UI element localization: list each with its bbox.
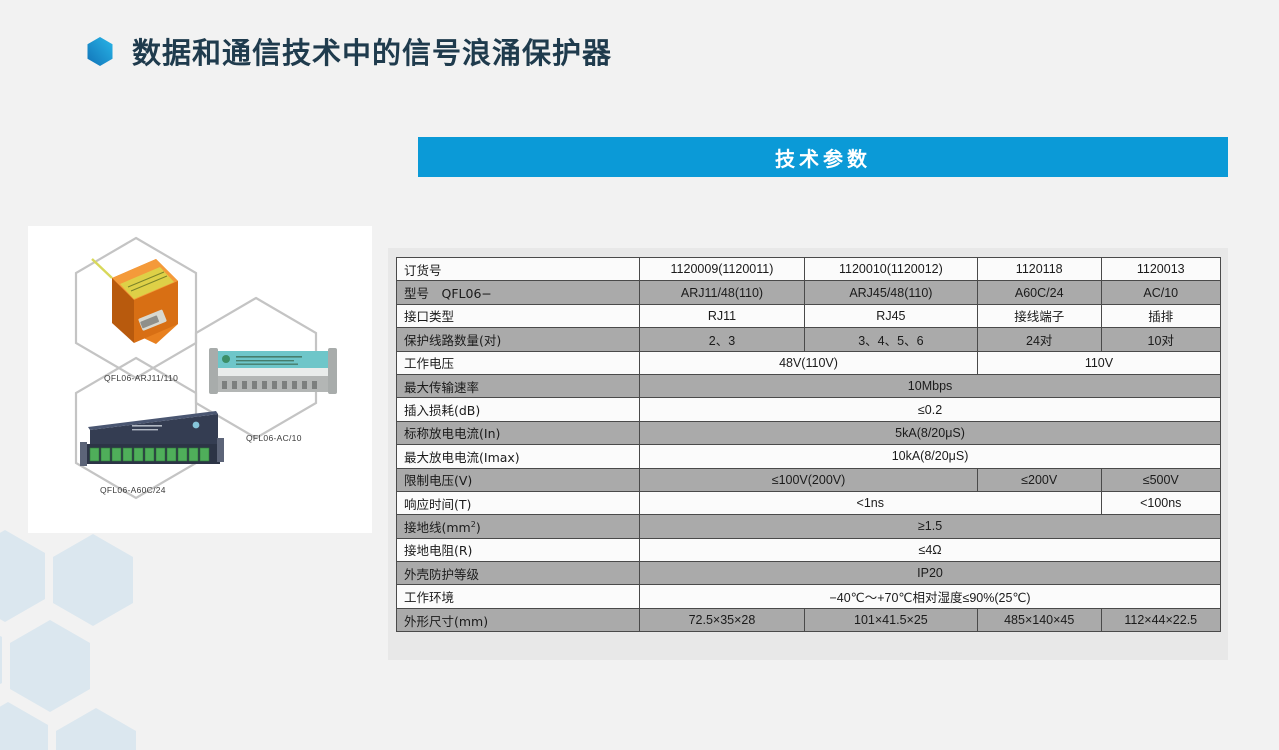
table-row-label: 外形尺寸(mm) — [397, 608, 640, 631]
product-caption-ac10: QFL06-AC/10 — [246, 433, 302, 443]
table-row: 订货号1120009(1120011)1120010(1120012)11201… — [397, 258, 1221, 281]
table-row-label: 最大传输速率 — [397, 374, 640, 397]
table-cell: <100ns — [1101, 491, 1221, 514]
table-cell: 101×41.5×25 — [804, 608, 977, 631]
product-caption-arj11: QFL06-ARJ11/110 — [104, 373, 178, 383]
hexagon-watermark-pattern — [0, 520, 290, 750]
product-hexagon-collage — [28, 226, 372, 533]
page-title: 数据和通信技术中的信号浪涌保护器 — [132, 30, 612, 72]
table-row-label: 工作环境 — [397, 585, 640, 608]
table-row-label: 响应时间(T) — [397, 491, 640, 514]
product-photo-ac10 — [209, 348, 337, 394]
table-cell: 1120009(1120011) — [640, 258, 805, 281]
table-cell: <1ns — [640, 491, 1101, 514]
section-banner-label: 技术参数 — [775, 143, 871, 172]
table-cell: A60C/24 — [977, 281, 1101, 304]
hexagon-icon — [86, 36, 114, 67]
table-cell: ARJ45/48(110) — [804, 281, 977, 304]
table-cell: 10对 — [1101, 328, 1221, 351]
table-row: 工作电压48V(110V)110V — [397, 351, 1221, 374]
table-cell: 1120013 — [1101, 258, 1221, 281]
table-row-label: 插入损耗(dB) — [397, 398, 640, 421]
spec-table-container: 订货号1120009(1120011)1120010(1120012)11201… — [388, 248, 1228, 660]
product-image-panel: QFL06-ARJ11/110 QFL06-AC/10 QFL06-A60C/2… — [28, 226, 372, 533]
table-cell: RJ45 — [804, 304, 977, 327]
table-cell: 485×140×45 — [977, 608, 1101, 631]
table-cell: 72.5×35×28 — [640, 608, 805, 631]
table-cell: 112×44×22.5 — [1101, 608, 1221, 631]
table-cell: 110V — [977, 351, 1220, 374]
table-row-label: 订货号 — [397, 258, 640, 281]
table-cell: ≤0.2 — [640, 398, 1221, 421]
page-title-bar: 数据和通信技术中的信号浪涌保护器 — [86, 30, 612, 72]
table-row: 标称放电电流(In)5kA(8/20μS) — [397, 421, 1221, 444]
table-cell: ≤4Ω — [640, 538, 1221, 561]
table-cell: −40℃～+70℃相对湿度≤90%(25℃) — [640, 585, 1221, 608]
table-row: 外形尺寸(mm)72.5×35×28101×41.5×25485×140×451… — [397, 608, 1221, 631]
table-cell: 插排 — [1101, 304, 1221, 327]
table-cell: 24对 — [977, 328, 1101, 351]
table-cell: 48V(110V) — [640, 351, 978, 374]
table-cell: ≤200V — [977, 468, 1101, 491]
table-row: 接地线(mm2)≥1.5 — [397, 515, 1221, 538]
table-row-label: 标称放电电流(In) — [397, 421, 640, 444]
table-row: 最大传输速率10Mbps — [397, 374, 1221, 397]
table-cell: 5kA(8/20μS) — [640, 421, 1221, 444]
table-row-label: 外壳防护等级 — [397, 562, 640, 585]
table-cell: AC/10 — [1101, 281, 1221, 304]
table-row-label: 工作电压 — [397, 351, 640, 374]
table-row-label: 保护线路数量(对) — [397, 328, 640, 351]
table-cell: 1120118 — [977, 258, 1101, 281]
table-cell: 2、3 — [640, 328, 805, 351]
table-row: 外壳防护等级IP20 — [397, 562, 1221, 585]
product-photo-arj11 — [92, 259, 178, 344]
table-cell: IP20 — [640, 562, 1221, 585]
table-row-label: 接地电阻(R) — [397, 538, 640, 561]
section-banner: 技术参数 — [418, 137, 1228, 177]
table-cell: RJ11 — [640, 304, 805, 327]
product-photo-a60c — [80, 411, 224, 466]
table-cell: ≤500V — [1101, 468, 1221, 491]
table-row: 响应时间(T)<1ns<100ns — [397, 491, 1221, 514]
table-row: 接口类型RJ11RJ45接线端子插排 — [397, 304, 1221, 327]
table-row: 限制电压(V)≤100V(200V)≤200V≤500V — [397, 468, 1221, 491]
spec-table: 订货号1120009(1120011)1120010(1120012)11201… — [396, 257, 1221, 632]
table-row: 工作环境−40℃～+70℃相对湿度≤90%(25℃) — [397, 585, 1221, 608]
table-cell: 3、4、5、6 — [804, 328, 977, 351]
table-row-label: 型号 QFL06− — [397, 281, 640, 304]
table-row: 型号 QFL06−ARJ11/48(110)ARJ45/48(110)A60C/… — [397, 281, 1221, 304]
table-cell: 10Mbps — [640, 374, 1221, 397]
table-row: 接地电阻(R)≤4Ω — [397, 538, 1221, 561]
table-cell: ≥1.5 — [640, 515, 1221, 538]
table-cell: 接线端子 — [977, 304, 1101, 327]
table-cell: ≤100V(200V) — [640, 468, 978, 491]
table-row: 插入损耗(dB)≤0.2 — [397, 398, 1221, 421]
product-caption-a60c: QFL06-A60C/24 — [100, 485, 166, 495]
table-row: 最大放电电流(Imax)10kA(8/20μS) — [397, 445, 1221, 468]
table-cell: 10kA(8/20μS) — [640, 445, 1221, 468]
table-row: 保护线路数量(对)2、33、4、5、624对10对 — [397, 328, 1221, 351]
table-cell: 1120010(1120012) — [804, 258, 977, 281]
table-row-label: 接口类型 — [397, 304, 640, 327]
table-cell: ARJ11/48(110) — [640, 281, 805, 304]
table-row-label: 限制电压(V) — [397, 468, 640, 491]
table-row-label: 接地线(mm2) — [397, 515, 640, 538]
table-row-label: 最大放电电流(Imax) — [397, 445, 640, 468]
